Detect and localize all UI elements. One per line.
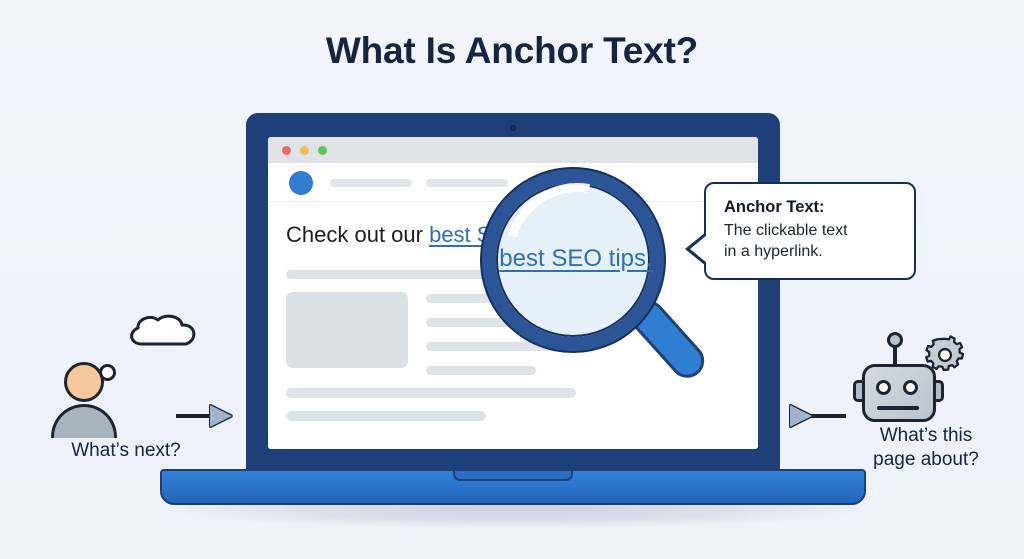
arrow-right-shaft [176, 414, 214, 418]
anchor-text-callout: Anchor Text: The clickable text in a hyp… [704, 182, 916, 280]
callout-line-1: The clickable text [724, 220, 898, 241]
gear-icon [924, 334, 966, 376]
left-actor-label: What’s next? [36, 440, 216, 462]
callout-title: Anchor Text: [724, 198, 898, 217]
callout-pointer-fill [690, 235, 707, 263]
arrow-left-shaft [808, 414, 846, 418]
laptop-notch [453, 471, 573, 481]
robot-eye-right [903, 380, 918, 395]
sentence-prefix: Check out our [286, 222, 429, 247]
robot-antenna-ball [887, 332, 903, 348]
close-icon[interactable] [282, 146, 291, 155]
skeleton-line-b1 [286, 388, 576, 398]
arrow-left-head [790, 405, 812, 427]
skeleton-image-block [286, 292, 408, 368]
minimize-icon[interactable] [300, 146, 309, 155]
magnified-anchor-text: best SEO tips. [496, 245, 656, 273]
camera-icon [510, 125, 516, 131]
right-actor-label-line-2: page about? [836, 448, 1016, 472]
arrow-right-head [210, 405, 232, 427]
avatar[interactable] [289, 171, 313, 195]
robot-eye-left [876, 380, 891, 395]
robot-mouth [877, 406, 919, 410]
person-body [51, 404, 117, 438]
nav-placeholder-1 [330, 179, 412, 187]
right-actor-label: What’s this page about? [836, 424, 1016, 471]
thought-bubble-icon [124, 314, 200, 362]
magnifying-glass-icon: best SEO tips. [482, 169, 682, 369]
browser-titlebar [268, 137, 758, 163]
skeleton-line-b2 [286, 411, 486, 421]
magnifier-lens: best SEO tips. [482, 169, 664, 351]
person-thinking-icon: What’s next? [36, 312, 246, 462]
illustration-canvas: What Is Anchor Text? Check out our [0, 0, 1024, 559]
arrow-right-icon [176, 405, 232, 427]
laptop-base [160, 469, 866, 505]
maximize-icon[interactable] [318, 146, 327, 155]
page-title: What Is Anchor Text? [0, 30, 1024, 72]
person-head [64, 362, 104, 402]
callout-line-2: in a hyperlink. [724, 241, 898, 262]
right-actor-label-line-1: What’s this [836, 424, 1016, 448]
